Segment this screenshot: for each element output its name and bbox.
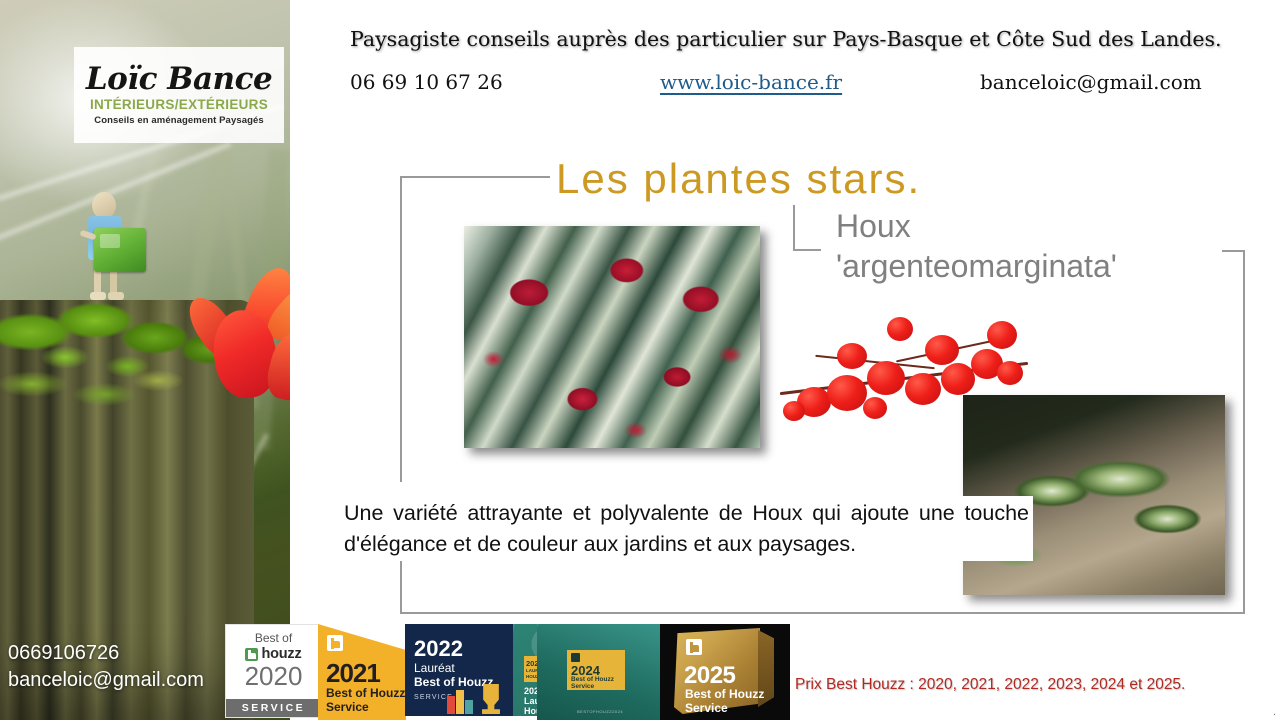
badge-2025-line2: Service [685,701,728,715]
badge-2025: 2025 Best of Houzz Service [660,624,790,720]
badge-2020-brand: houzz [261,646,301,662]
overlay-contact: 0669106726 banceloic@gmail.com [8,640,204,694]
badge-2022-line1: Lauréat [414,661,455,675]
header-email: banceloic@gmail.com [980,70,1202,94]
frame-line-top [400,176,550,178]
badge-2020-service: SERVICE [226,699,321,717]
header-website-link[interactable]: www.loic-bance.fr [660,70,842,94]
left-hero-image: Loïc Bance Intérieurs/Extérieurs Conseil… [0,0,290,720]
houzz-icon [245,648,258,661]
book-icon [447,696,455,714]
frame-line-right [1243,250,1245,614]
plant-name-subtitle: Houx 'argenteomarginata' [836,206,1236,286]
logo-name: Loïc Bance [86,64,272,95]
header-tagline: Paysagiste conseils auprès des particuli… [350,27,1230,51]
awards-badge-strip: Best of houzz 2020 SERVICE 2021 Best of … [225,624,1015,720]
holly-bush-photo [464,226,760,448]
page-corner-mark: . [1273,706,1276,718]
moss-secondary [0,356,188,426]
book-icon [456,690,464,714]
variegated-holly-photo [963,395,1225,595]
badge-2020: Best of houzz 2020 SERVICE [225,624,322,718]
badge-2021-line1: Best of Houzz [326,686,405,700]
houzz-icon [686,639,702,655]
header-phone: 06 69 10 67 26 [350,70,503,94]
subtitle-bracket-vertical [793,205,795,251]
badge-2022-line2: Best of Houzz [414,675,493,689]
badge-2020-year: 2020 [245,663,303,689]
slide-root: Loïc Bance Intérieurs/Extérieurs Conseil… [0,0,1280,720]
houzz-icon [327,635,343,651]
badge-2020-bestof: Best of [255,631,292,645]
holly-bush-image [464,226,760,448]
badge-2021-year: 2021 [326,658,380,689]
badge-2024-line1: Best of Houzz [571,676,614,683]
houzz-icon [571,653,580,662]
badge-2022-year: 2022 [414,636,463,662]
badge-2021: 2021 Best of Houzz Service [318,624,406,720]
badge-2022: 2022 Lauréat Best of Houzz SERVICE [405,624,515,716]
header-contact-row: 06 69 10 67 26 www.loic-bance.fr bancelo… [350,70,1230,102]
badge-2025-year: 2025 [684,662,735,690]
book-icon [465,700,473,714]
badge-2025-line1: Best of Houzz [685,687,764,701]
overlay-email: banceloic@gmail.com [8,667,204,694]
variegated-holly-image [963,395,1225,595]
frame-line-bottom [400,612,1245,614]
badge-2024-line2: Service [571,683,594,690]
page-title: Les plantes stars. [556,155,921,203]
logo-tagline: Conseils en aménagement Paysagés [94,115,264,126]
subtitle-bracket-horizontal [793,249,821,251]
awards-caption: Prix Best Houzz : 2020, 2021, 2022, 2023… [795,676,1185,694]
badge-2021-line2: Service [326,700,369,714]
overlay-phone: 0669106726 [8,640,204,667]
badge-2024-footnote: BESTOFHOUZZ2024 [577,709,623,714]
badge-2024: 2024 Best of Houzz Service BESTOFHOUZZ20… [537,624,667,720]
red-autumn-leaf [194,250,290,400]
frame-line-left-upper [400,176,402,482]
frame-line-left-lower [400,556,402,614]
logo-subtitle: Intérieurs/Extérieurs [90,97,268,112]
company-logo[interactable]: Loïc Bance Intérieurs/Extérieurs Conseil… [74,47,284,143]
plant-description: Une variété attrayante et polyvalente de… [340,496,1033,561]
